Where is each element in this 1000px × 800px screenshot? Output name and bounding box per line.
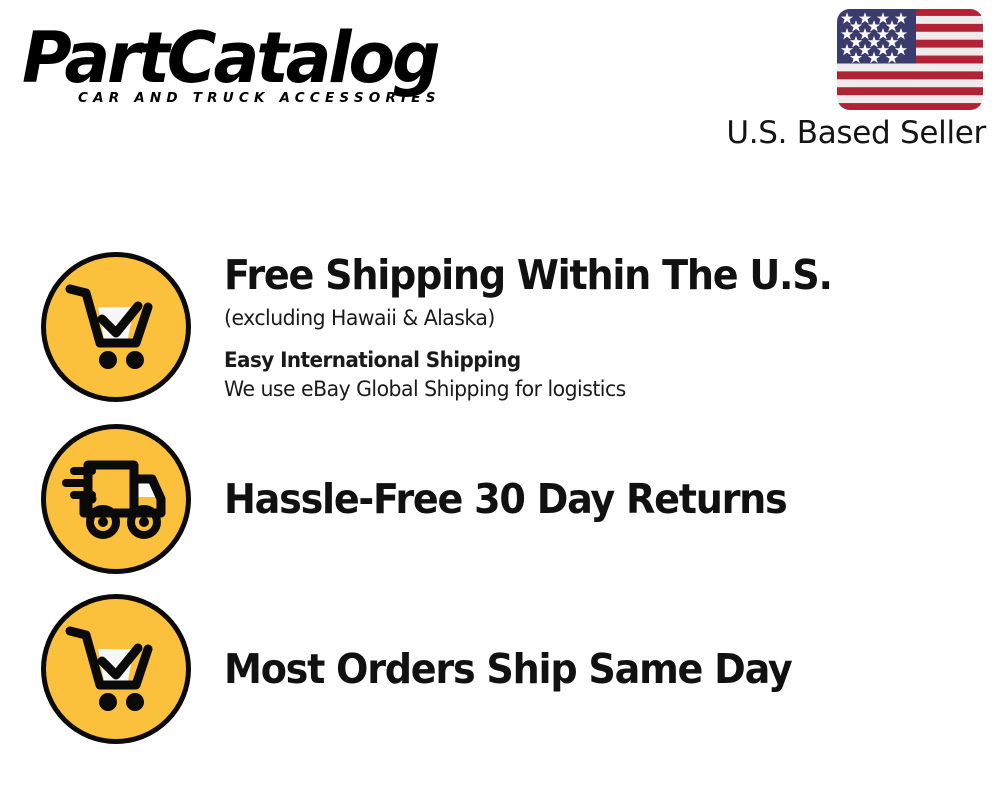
us-based-seller-badge: U.S. Based Seller <box>706 8 986 151</box>
brand-wordmark: PartCatalog <box>22 22 478 94</box>
delivery-truck-icon <box>41 424 191 574</box>
feature-row: Most Orders Ship Same Day <box>0 584 1000 754</box>
feature-subtitle-international: Easy International Shipping <box>224 346 942 374</box>
feature-text: Free Shipping Within The U.S. (excluding… <box>224 251 1000 404</box>
us-flag-icon <box>836 8 984 111</box>
page-header: PartCatalog CAR AND TRUCK ACCESSORIES <box>0 0 1000 180</box>
feature-row: Hassle-Free 30 Day Returns <box>0 414 1000 584</box>
feature-subtitle-exclusions: (excluding Hawaii & Alaska) <box>224 305 942 333</box>
feature-title: Hassle-Free 30 Day Returns <box>224 475 927 524</box>
brand-logo[interactable]: PartCatalog CAR AND TRUCK ACCESSORIES <box>22 22 492 117</box>
feature-title: Free Shipping Within The U.S. <box>224 251 927 300</box>
feature-row: Free Shipping Within The U.S. (excluding… <box>0 242 1000 412</box>
feature-text: Hassle-Free 30 Day Returns <box>224 475 1000 524</box>
shopping-cart-check-icon <box>41 594 191 744</box>
feature-text: Most Orders Ship Same Day <box>224 645 1000 694</box>
feature-title: Most Orders Ship Same Day <box>224 645 927 694</box>
shopping-cart-check-icon <box>41 252 191 402</box>
feature-subtitle-logistics: We use eBay Global Shipping for logistic… <box>224 376 942 404</box>
us-based-seller-label: U.S. Based Seller <box>706 115 986 151</box>
